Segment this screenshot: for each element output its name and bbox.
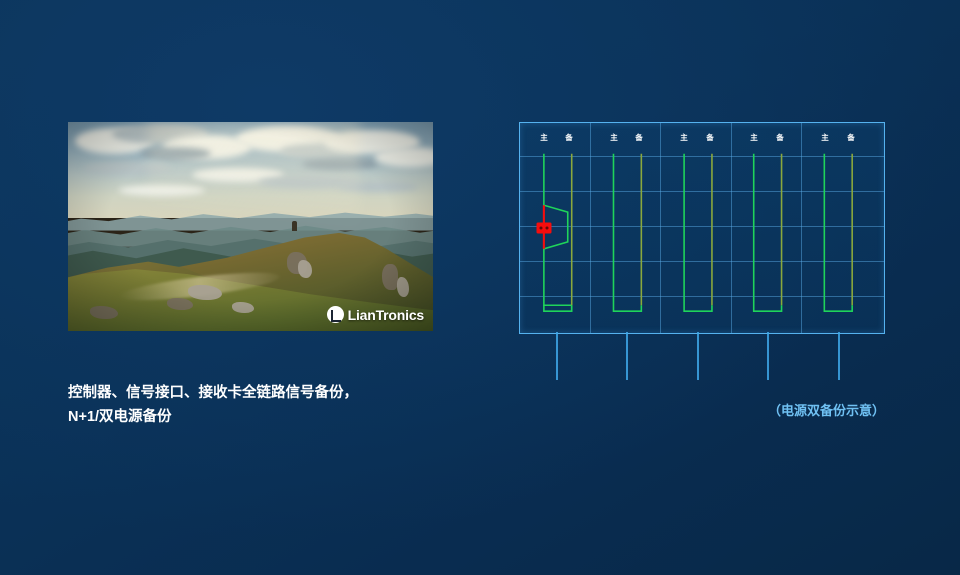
feature-caption: 控制器、信号接口、接收卡全链路信号备份， N+1/双电源备份	[68, 381, 488, 429]
column-2-primary-line	[613, 154, 641, 312]
photo-canvas	[68, 122, 433, 331]
psu-pin-icon	[545, 227, 548, 230]
column-5-primary-line	[824, 154, 852, 312]
power-bus-lines	[519, 332, 919, 390]
caption-line-2: N+1/双电源备份	[68, 405, 488, 429]
column-3-primary-line	[684, 154, 712, 312]
circuit-lines	[520, 123, 884, 333]
photo-vignette	[68, 122, 433, 331]
liantronics-watermark: LianTronics	[327, 306, 424, 323]
page-root: LianTronics 控制器、信号接口、接收卡全链路信号备份， N+1/双电源…	[0, 0, 960, 575]
diagram-sub-caption: （电源双备份示意）	[600, 400, 885, 419]
power-redundancy-diagram: 主 备 主 备 主 备 主 备 主 备	[519, 122, 885, 334]
psu-pin-icon	[540, 227, 543, 230]
power-bus	[519, 332, 919, 390]
liantronics-brand-text: LianTronics	[348, 307, 424, 323]
diagram-panel: 主 备 主 备 主 备 主 备 主 备	[519, 122, 885, 334]
liantronics-logo-icon	[327, 306, 344, 323]
column-4-primary-line	[754, 154, 782, 312]
caption-line-1: 控制器、信号接口、接收卡全链路信号备份，	[68, 381, 488, 405]
mountain-landscape-photo: LianTronics	[68, 122, 433, 331]
psu-indicator-icon	[537, 223, 552, 234]
